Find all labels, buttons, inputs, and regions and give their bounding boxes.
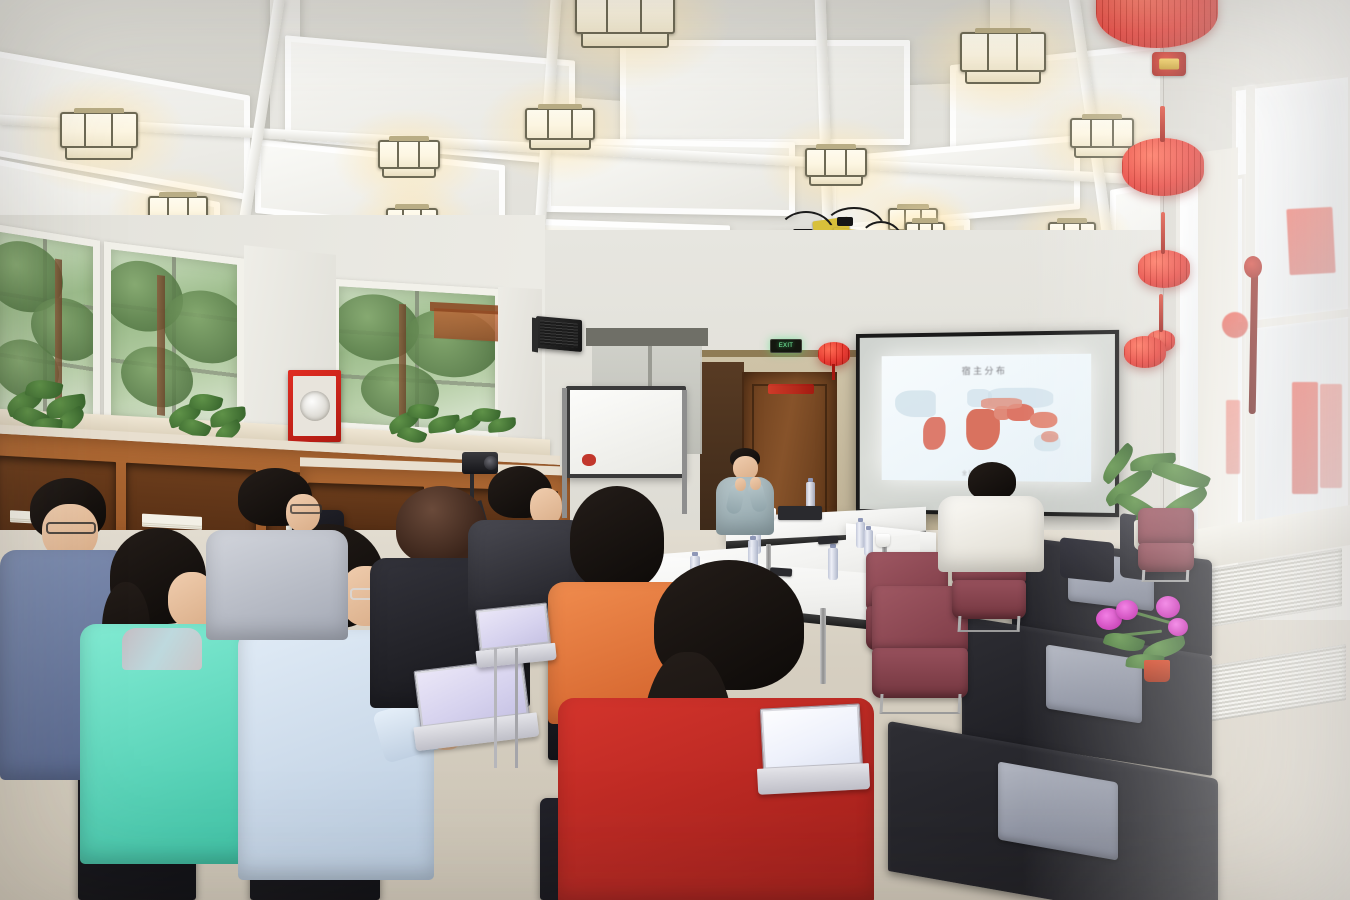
laptop-stand [494, 648, 518, 768]
papercut-decoration [1286, 207, 1335, 275]
papercut-decoration [1292, 382, 1318, 494]
landmass-south-america-highlight [923, 417, 945, 450]
papercut-decoration [1222, 312, 1248, 338]
attendee-white-shirt [938, 462, 1044, 572]
scarf-pattern [122, 628, 202, 670]
red-lantern [818, 342, 850, 366]
ceiling-lamp [805, 148, 867, 186]
wall-speaker [536, 316, 582, 352]
red-lantern [1124, 336, 1166, 368]
papercut-decoration [1320, 384, 1342, 488]
plant-sill-4 [452, 406, 522, 450]
orchid-flower [1116, 600, 1138, 620]
laptop[interactable] [760, 703, 864, 794]
ceiling-lamp [378, 140, 440, 178]
lantern-tassel [1159, 294, 1163, 332]
lantern-tassel [832, 364, 835, 380]
landmass-russia-highlight [981, 398, 1023, 409]
ceiling-lamp [60, 112, 138, 160]
ceiling-lamp [960, 32, 1046, 84]
slide-title: 宿主分布 [882, 363, 1091, 378]
whiteboard [566, 386, 686, 478]
corridor-header-beam [586, 328, 708, 346]
maroon-chair[interactable] [1138, 508, 1194, 580]
conference-room-photo: EXIT 宿主分布 [0, 0, 1350, 900]
world-map-graphic [892, 385, 1080, 464]
whiteboard-red-mark [582, 454, 596, 466]
presenter [714, 448, 784, 534]
paper-cup [876, 534, 890, 547]
glasses-icon [290, 504, 322, 514]
red-lantern [1122, 138, 1204, 196]
papercut-decoration [1226, 400, 1240, 474]
orchid-flower [1156, 596, 1180, 618]
table-item-dark [778, 506, 822, 520]
exit-sign: EXIT [770, 339, 802, 353]
lantern-tassel [1161, 212, 1165, 254]
red-lantern [1138, 250, 1190, 288]
orchid-pot [1144, 660, 1170, 682]
exit-sign-label: EXIT [779, 343, 794, 349]
door-red-banner [768, 384, 814, 394]
red-lantern [1096, 0, 1218, 48]
speaker-bracket [532, 317, 538, 352]
lantern-knot [1152, 52, 1186, 76]
ceiling-lamp [575, 0, 675, 48]
orchid-flower [1168, 618, 1188, 636]
bag-on-sofa [1060, 537, 1114, 583]
landmass-southeast-asia-highlight [1030, 412, 1057, 428]
lantern-tassel [1160, 106, 1165, 142]
landmass-oceania-highlight [1042, 431, 1059, 442]
red-display-frame [288, 370, 341, 442]
ceiling-lamp [525, 108, 595, 150]
attendee-gray-hoodie [210, 468, 340, 628]
papercut-tassel-head [1244, 256, 1262, 278]
landmass-north-america [896, 390, 936, 416]
mobile-phone [818, 535, 839, 544]
